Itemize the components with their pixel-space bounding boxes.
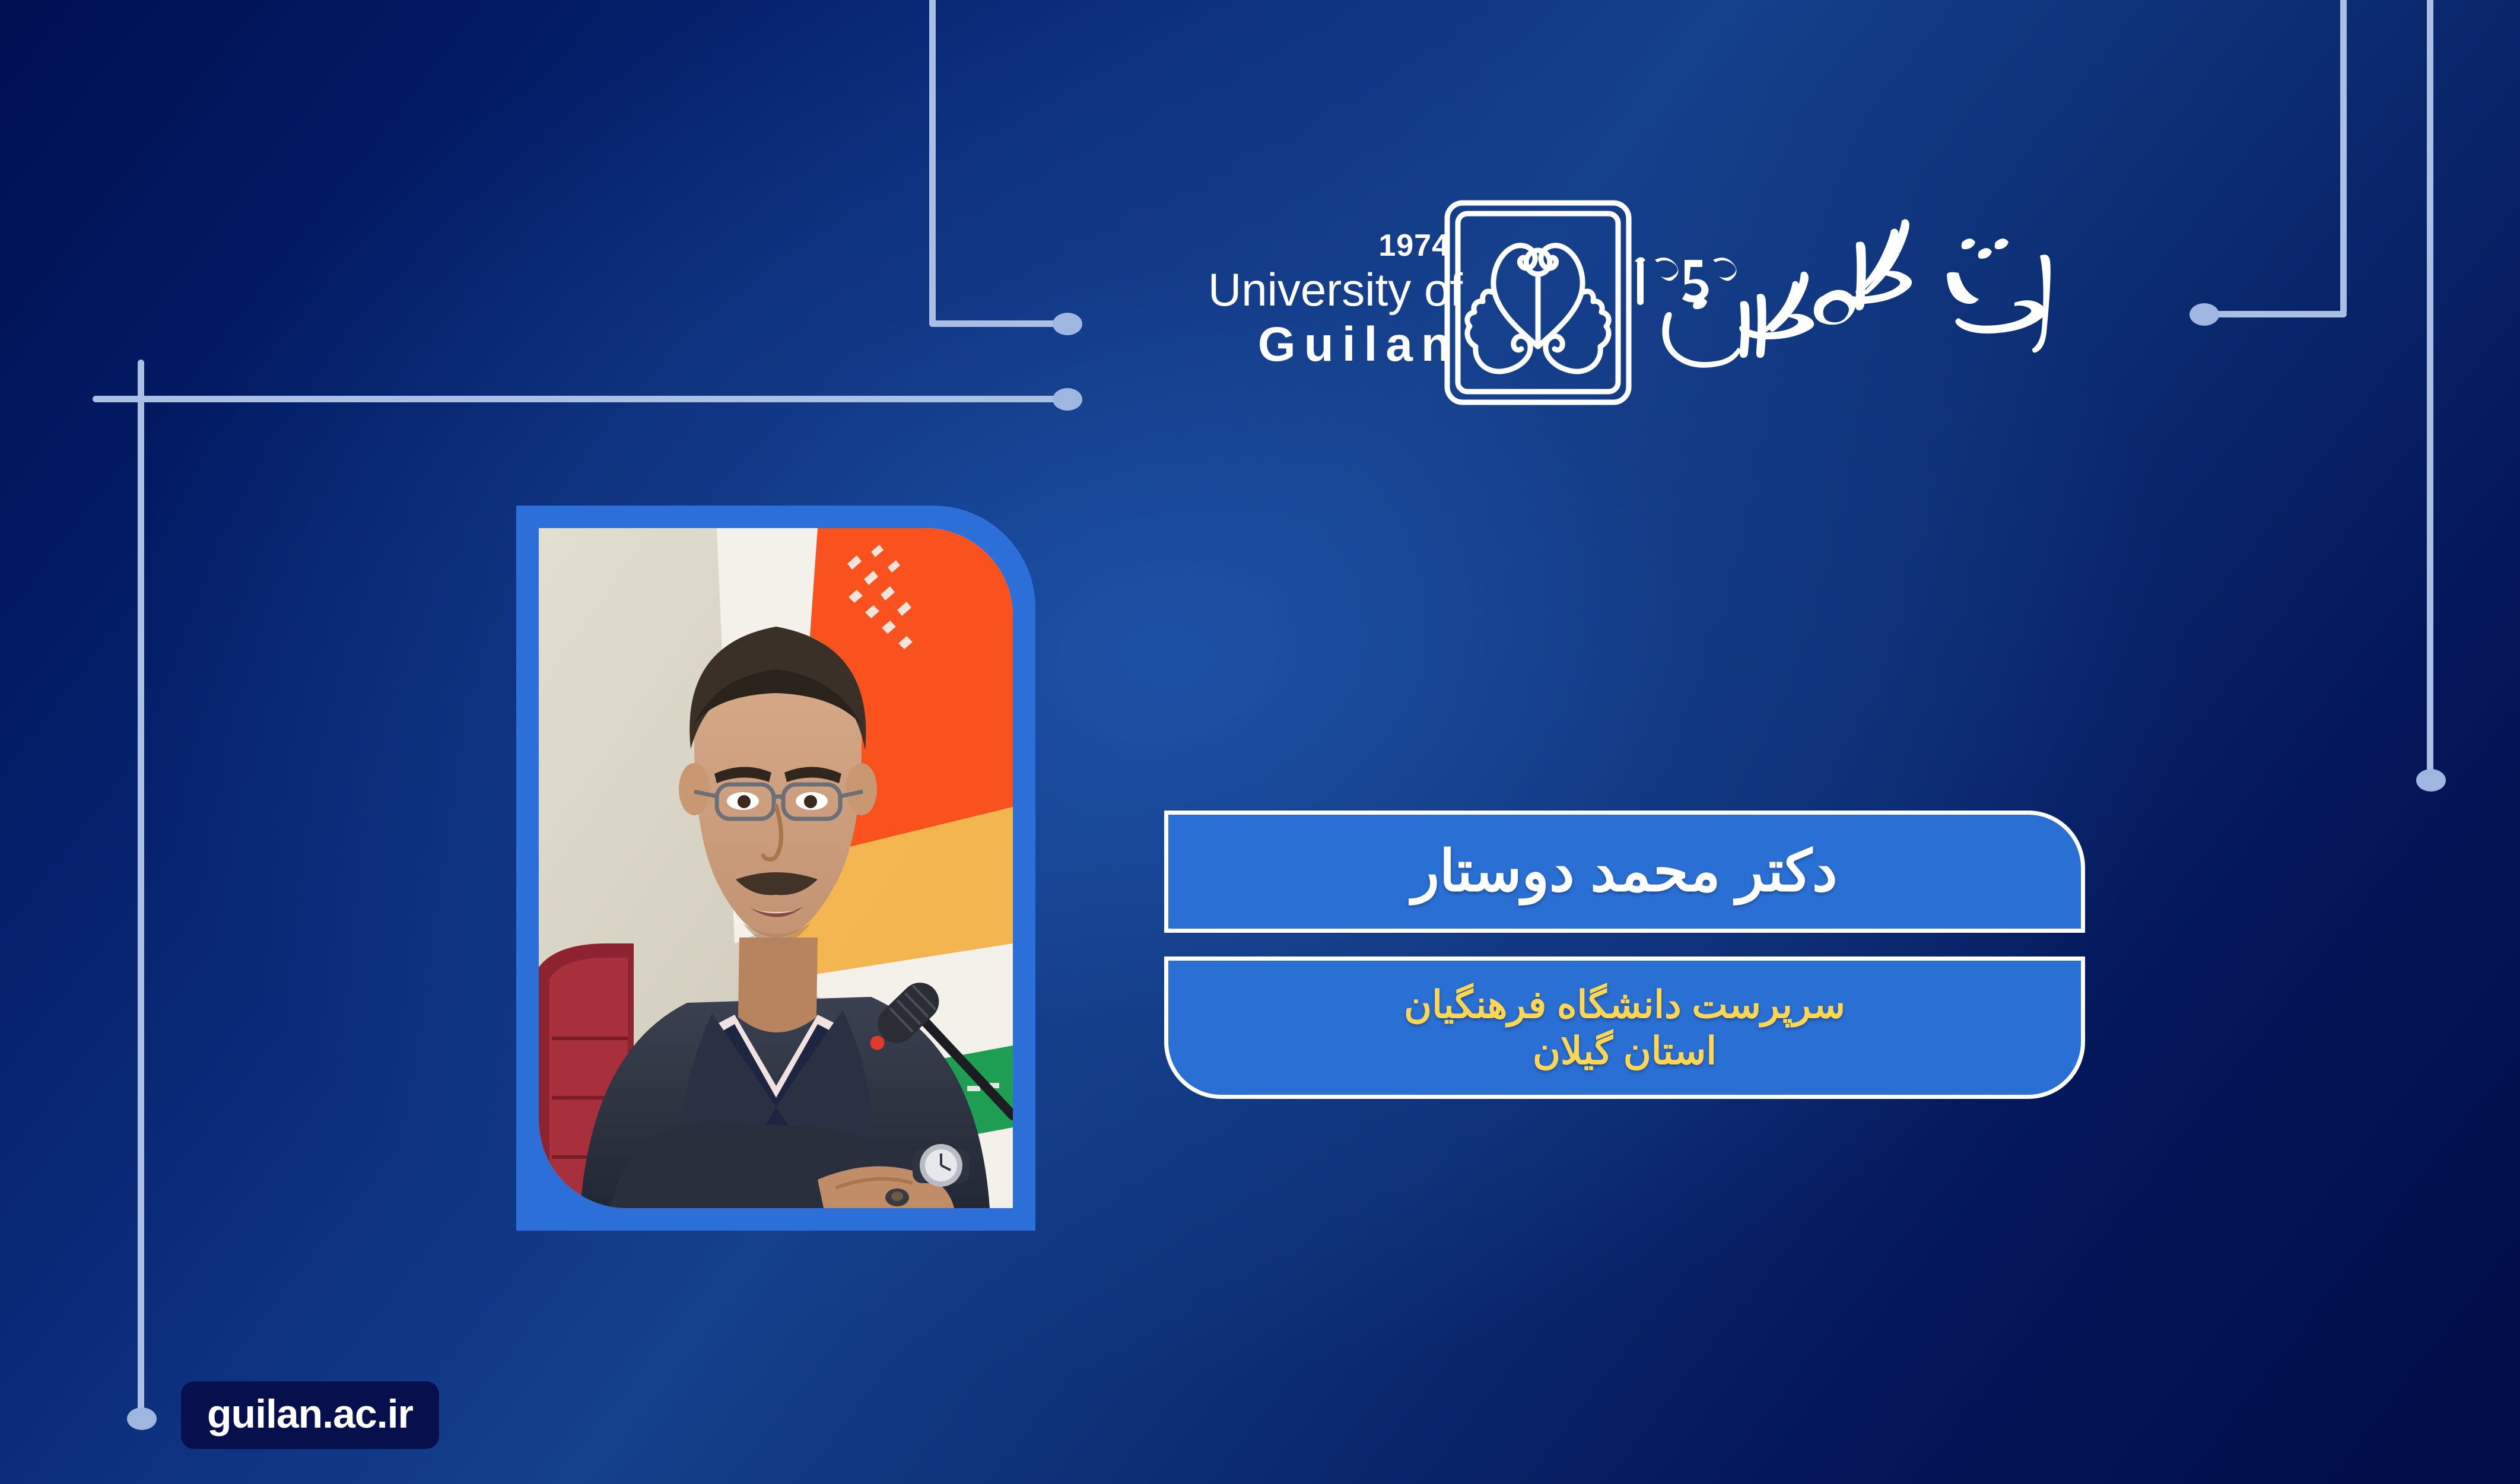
decor-vline-top-left bbox=[929, 0, 936, 326]
person-title-line1: سرپرست دانشگاه فرهنگیان bbox=[1404, 983, 1845, 1026]
portrait-photo bbox=[539, 528, 1013, 1208]
person-title-line2: استان گیلان bbox=[1533, 1029, 1717, 1072]
decor-dot-left-bottom bbox=[127, 1407, 157, 1430]
portrait-illustration bbox=[539, 528, 1013, 1208]
portrait-frame bbox=[516, 506, 1035, 1231]
logo-persian-text bbox=[1623, 185, 2074, 422]
person-title: سرپرست دانشگاه فرهنگیان استان گیلان bbox=[1404, 981, 1845, 1074]
decor-hline-lower bbox=[93, 396, 1073, 402]
decor-vline-top-right bbox=[2340, 0, 2347, 314]
decor-hline-upper bbox=[929, 320, 1073, 327]
decor-dot-lower bbox=[1053, 388, 1082, 411]
decor-dot-right bbox=[2189, 303, 2219, 326]
person-name-plate: دکتر محمد دوستار bbox=[1164, 811, 2085, 933]
logo-guilan-label: Guilan bbox=[1154, 318, 1463, 371]
person-title-plate: سرپرست دانشگاه فرهنگیان استان گیلان bbox=[1164, 957, 2085, 1099]
banner-canvas: 1974 University of Guilan bbox=[0, 0, 2520, 1484]
decor-dot-upper bbox=[1053, 313, 1082, 335]
logo-year-persian bbox=[1635, 257, 1737, 305]
logo-year-gregorian: 1974 bbox=[1154, 230, 1450, 261]
logo-english-text: 1974 University of Guilan bbox=[1154, 230, 1463, 371]
logo-persian-calligraphy bbox=[1623, 185, 2074, 422]
logo-university-of-label: University of bbox=[1154, 265, 1463, 314]
decor-vline-left-long bbox=[138, 360, 144, 1417]
logo-wordmark-persian bbox=[1662, 219, 2050, 367]
decor-hline-right bbox=[2203, 311, 2347, 317]
person-name: دکتر محمد دوستار bbox=[1412, 843, 1837, 900]
decor-dot-right-bottom bbox=[2416, 769, 2446, 792]
website-url: guilan.ac.ir bbox=[207, 1391, 413, 1437]
university-logo: 1974 University of Guilan bbox=[1154, 178, 2086, 433]
website-badge[interactable]: guilan.ac.ir bbox=[181, 1381, 439, 1449]
decor-vline-right-long bbox=[2427, 0, 2433, 777]
guilan-emblem-icon bbox=[1442, 198, 1634, 407]
wristwatch bbox=[913, 1144, 970, 1187]
